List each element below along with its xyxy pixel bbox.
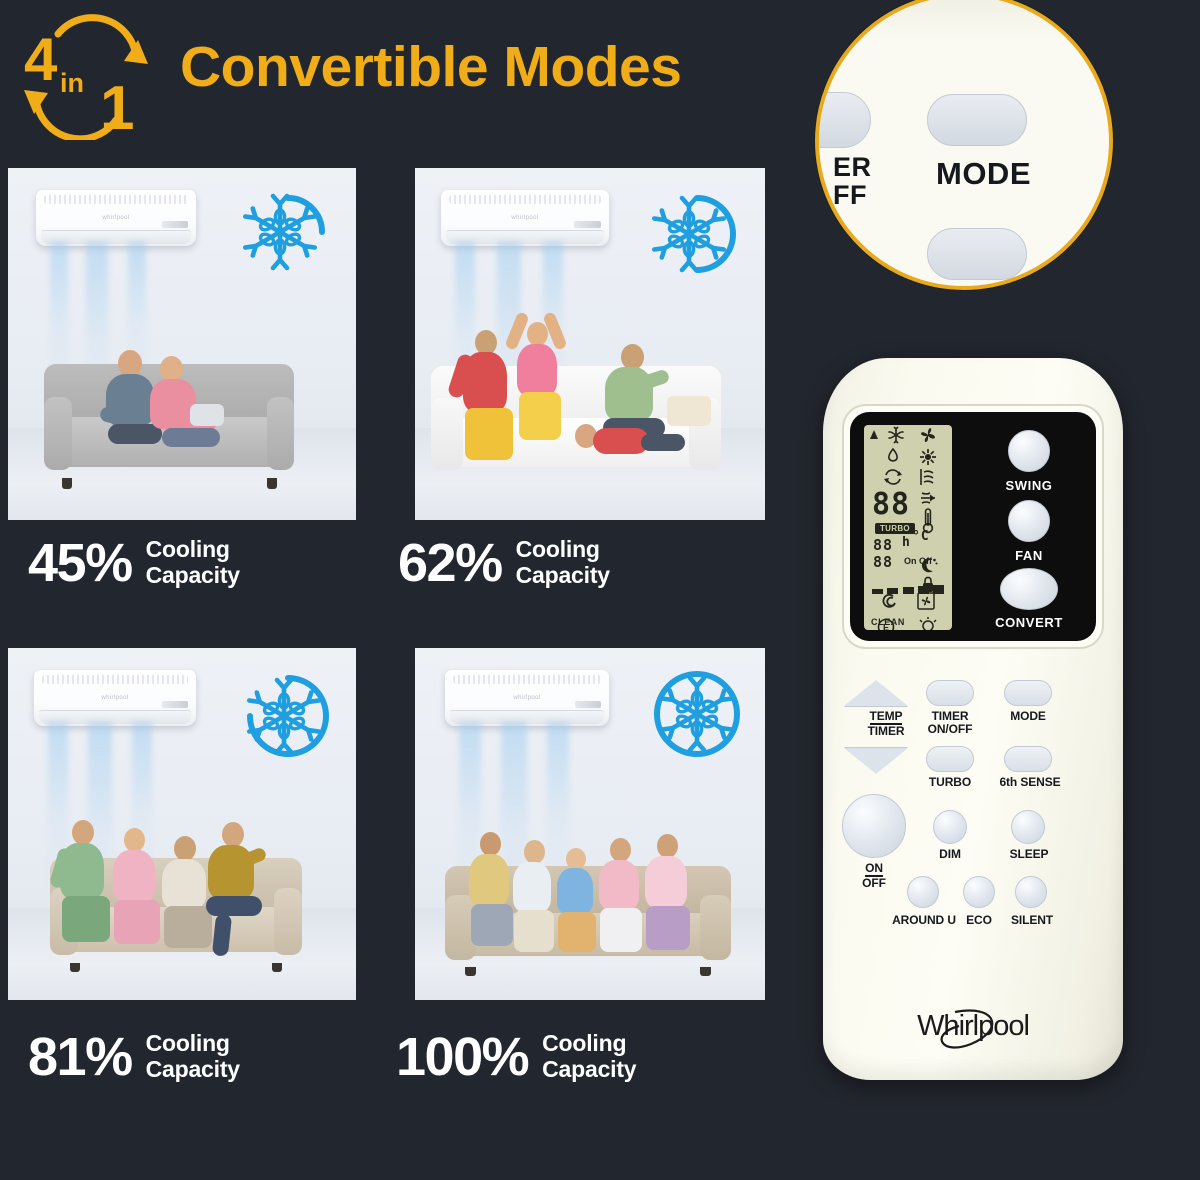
remote-screen-frame: E <box>842 404 1104 649</box>
lcd-hour-unit: h <box>902 535 911 550</box>
power-button[interactable] <box>842 794 906 858</box>
dim-button[interactable] <box>933 810 967 844</box>
convert-label: CONVERT <box>981 615 1077 630</box>
4-in-1-badge: 4 in 1 <box>12 14 162 140</box>
caption-4: 100% Cooling Capacity <box>396 1030 636 1084</box>
percent-value-1: 45% <box>28 536 132 590</box>
header: 4 in 1 Convertible Modes <box>0 0 800 150</box>
magnifier-callout: ER FF MODE <box>815 0 1113 290</box>
turbo-button[interactable] <box>926 746 974 772</box>
whirlpool-swirl-icon <box>901 1004 1031 1050</box>
percent-value-3: 81% <box>28 1030 132 1084</box>
zoom-partial-label-er: ER <box>833 152 872 183</box>
svg-text:4: 4 <box>24 26 58 93</box>
lcd-clean-label: CLEAN <box>871 617 905 627</box>
silent-label: SILENT <box>1003 914 1061 927</box>
zoom-turbo-button[interactable] <box>927 228 1027 280</box>
temp-up-button[interactable] <box>844 680 908 706</box>
fan-button[interactable] <box>1008 500 1050 542</box>
lcd-temp-digits: 88 <box>872 487 910 522</box>
zoom-partial-label-ff: FF <box>833 180 867 211</box>
lcd-turbo-badge: TURBO <box>875 523 915 534</box>
silent-button[interactable] <box>1015 876 1047 908</box>
caption-3: 81% Cooling Capacity <box>28 1030 240 1084</box>
percent-value-2: 62% <box>398 536 502 590</box>
scene-4 <box>415 648 765 1000</box>
lcd-signal-bars <box>872 585 944 594</box>
around-u-button[interactable] <box>907 876 939 908</box>
mode-label: MODE <box>996 710 1060 723</box>
mode-panel-3: whirlpool <box>8 648 356 1000</box>
eco-label: ECO <box>953 914 1005 927</box>
dim-label: DIM <box>921 848 979 861</box>
sleep-button[interactable] <box>1011 810 1045 844</box>
remote-screen: E <box>850 412 1096 641</box>
turbo-label: TURBO <box>918 776 982 789</box>
swing-label: SWING <box>990 478 1068 493</box>
caption-text-1: Cooling Capacity <box>146 537 240 589</box>
mode-panel-1: whirlpool <box>8 168 356 520</box>
scene-1 <box>8 168 356 520</box>
zoom-timer-onoff-button[interactable] <box>815 92 871 148</box>
lcd-timer-digits: 88 <box>873 536 893 554</box>
scene-2 <box>415 168 765 520</box>
remote-top-edge-zoom <box>815 0 1113 42</box>
around-u-label: AROUND U <box>885 914 963 927</box>
percent-value-4: 100% <box>396 1030 528 1084</box>
eco-button[interactable] <box>963 876 995 908</box>
6th-sense-label: 6th SENSE <box>989 776 1071 789</box>
sleep-label: SLEEP <box>999 848 1059 861</box>
convert-button[interactable] <box>1000 568 1058 610</box>
mode-panel-4: whirlpool <box>415 648 765 1000</box>
lcd-timer-digits-2: 88 <box>873 553 893 571</box>
temp-down-button[interactable] <box>844 748 908 774</box>
fan-label: FAN <box>990 548 1068 563</box>
scene-3 <box>8 648 356 1000</box>
6th-sense-button[interactable] <box>1004 746 1052 772</box>
caption-text-3: Cooling Capacity <box>146 1031 240 1083</box>
remote-control: E <box>823 358 1123 1080</box>
mode-panel-2: whirlpool <box>415 168 765 520</box>
caption-text-4: Cooling Capacity <box>542 1031 636 1083</box>
svg-text:1: 1 <box>100 74 134 140</box>
caption-1: 45% Cooling Capacity <box>28 536 240 590</box>
caption-text-2: Cooling Capacity <box>516 537 610 589</box>
lcd-on-off-label: On Off <box>904 556 932 566</box>
timer-on-off-label: TIMER ON/OFF <box>918 710 982 735</box>
power-label: ON OFF <box>844 862 904 889</box>
caption-2: 62% Cooling Capacity <box>398 536 610 590</box>
zoom-mode-label: MODE <box>936 156 1031 192</box>
page-title: Convertible Modes <box>180 34 681 100</box>
timer-on-off-button[interactable] <box>926 680 974 706</box>
lcd-display: E <box>864 425 952 630</box>
zoom-mode-button[interactable] <box>927 94 1027 146</box>
swing-button[interactable] <box>1008 430 1050 472</box>
mode-button[interactable] <box>1004 680 1052 706</box>
svg-text:in: in <box>60 68 84 98</box>
